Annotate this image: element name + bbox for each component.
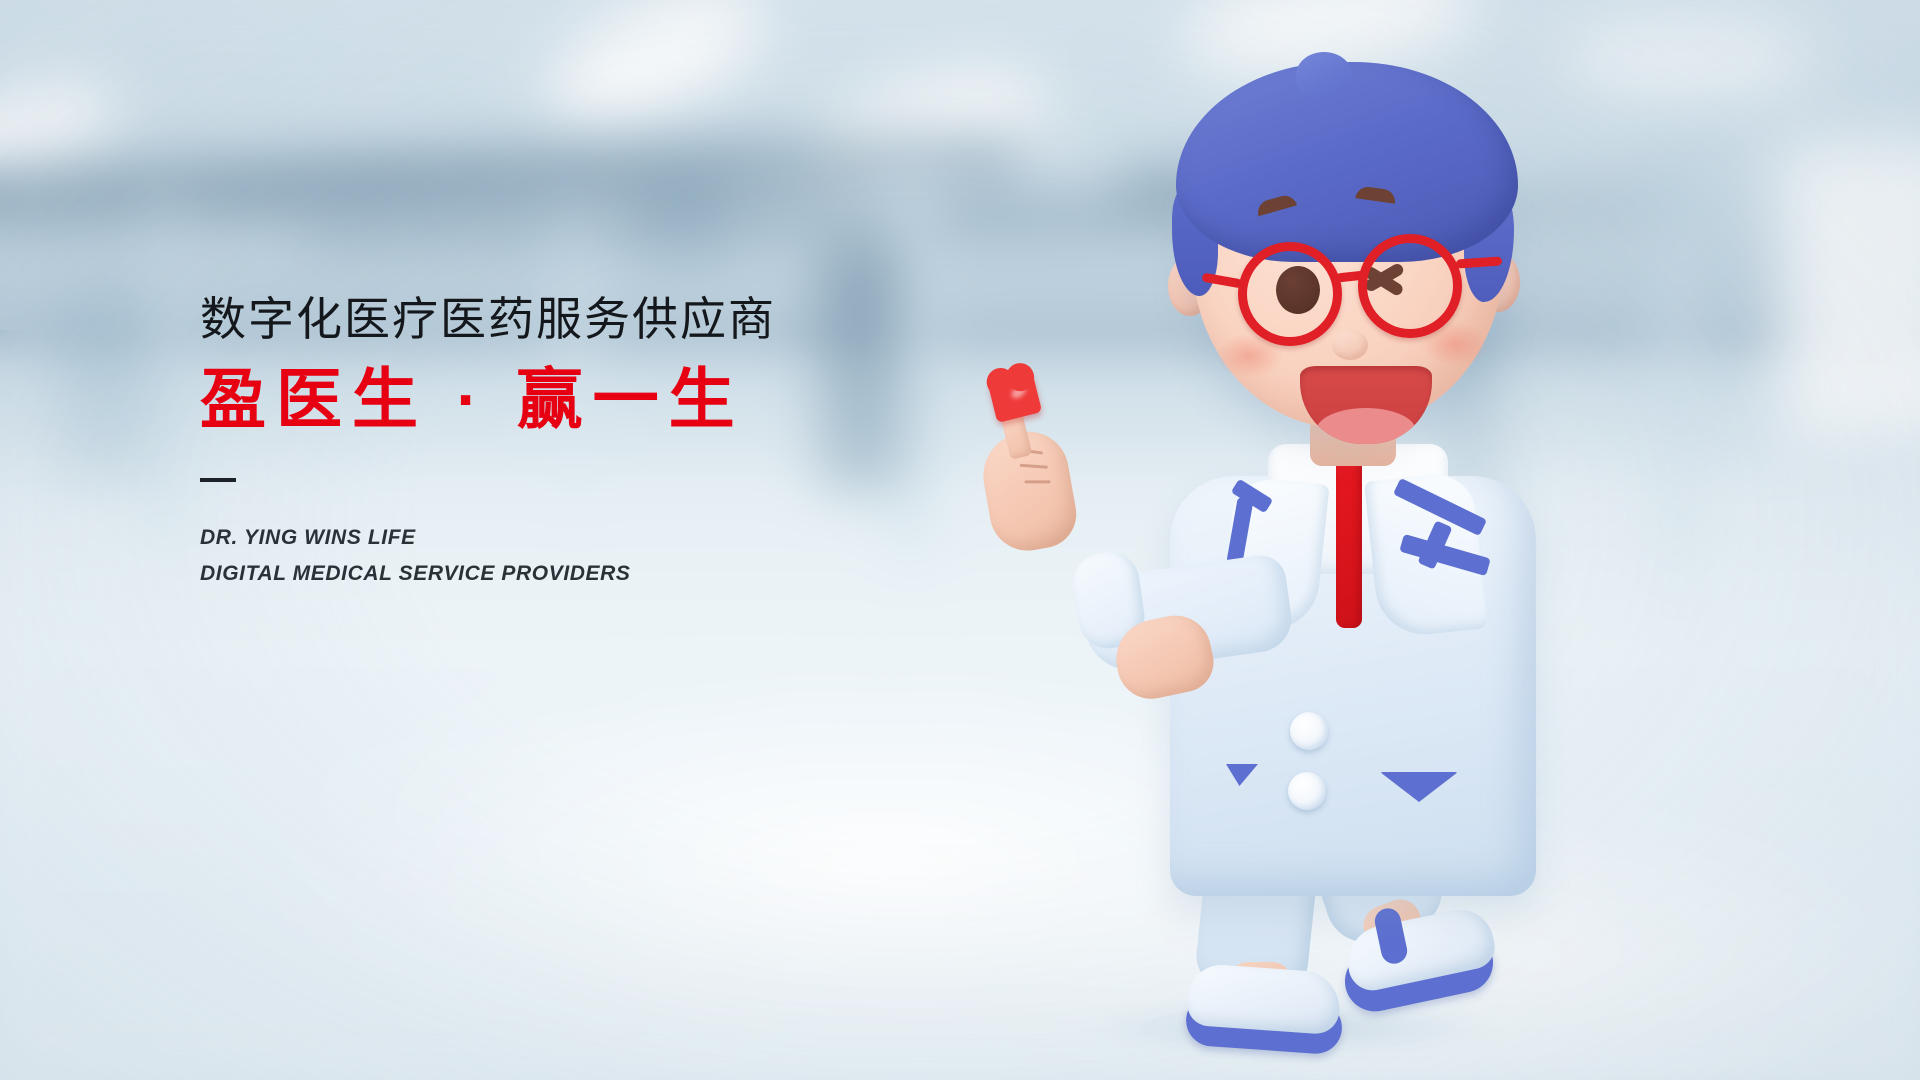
- mascot-tongue: [1316, 408, 1416, 444]
- hero-subtitle-line-1: DR. YING WINS LIFE: [200, 520, 1020, 556]
- hero-subtitle-line-2: DIGITAL MEDICAL SERVICE PROVIDERS: [200, 556, 1020, 592]
- divider: [200, 478, 236, 482]
- mascot-coat-button: [1288, 772, 1326, 810]
- heart-icon: [982, 364, 1062, 444]
- mascot-mouth: [1300, 366, 1432, 444]
- doctor-mascot: [980, 46, 1680, 1046]
- mascot-hair-tuft: [1296, 52, 1352, 98]
- mascot-coat-button: [1290, 712, 1328, 750]
- page-title: 数字化医疗医药服务供应商: [200, 296, 1020, 342]
- mascot-shoe-left: [1186, 963, 1342, 1035]
- hero-subtitle: DR. YING WINS LIFE DIGITAL MEDICAL SERVI…: [200, 520, 1020, 592]
- hero-copy: 数字化医疗医药服务供应商 盈医生 · 赢一生 DR. YING WINS LIF…: [200, 296, 1020, 592]
- hero-slogan: 盈医生 · 赢一生: [200, 366, 1020, 432]
- glasses-icon: [1210, 228, 1510, 358]
- mascot-tie: [1336, 448, 1362, 628]
- hero-banner: 数字化医疗医药服务供应商 盈医生 · 赢一生 DR. YING WINS LIF…: [0, 0, 1920, 1080]
